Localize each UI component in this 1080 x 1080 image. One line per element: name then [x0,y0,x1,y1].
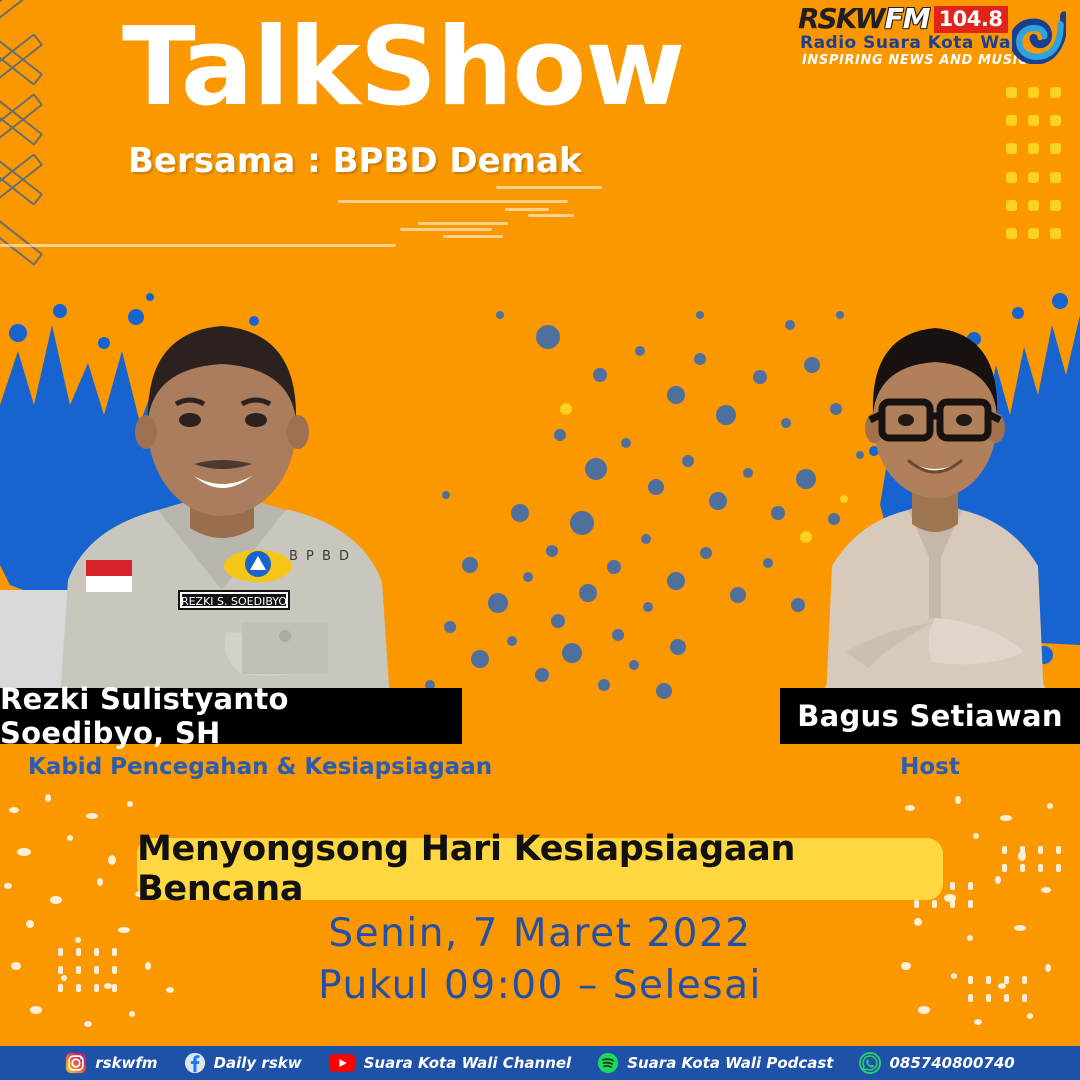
social-instagram[interactable]: rskwfm [65,1052,157,1074]
social-label: Suara Kota Wali Podcast [627,1054,833,1072]
logo-brand-fm: FM [885,5,930,33]
chevron-decoration [0,18,104,273]
schedule-block: Senin, 7 Maret 2022 Pukul 09:00 – Selesa… [0,908,1080,1012]
topic-text: Menyongsong Hari Kesiapsiagaan Bencana [137,829,943,909]
logo-frequency: 104.8 [934,6,1008,33]
social-facebook[interactable]: Daily rskw [184,1052,302,1074]
talkshow-poster: RSKW FM 104.8 Radio Suara Kota Wali INSP… [0,0,1080,1080]
schedule-time: Pukul 09:00 – Selesai [0,960,1080,1012]
youtube-icon [328,1052,356,1074]
host-name: Bagus Setiawan [797,699,1063,733]
social-label: Daily rskw [214,1054,302,1072]
social-footer: rskwfm Daily rskw Suara Kota Wali Channe… [0,1042,1080,1080]
host-photo-bagus [800,270,1070,700]
logo-brand-main: RSKW [798,5,884,33]
social-whatsapp[interactable]: 085740800740 [859,1052,1014,1074]
instagram-icon [65,1052,87,1074]
schedule-date: Senin, 7 Maret 2022 [0,908,1080,960]
station-logo: RSKW FM 104.8 Radio Suara Kota Wali INSP… [798,4,1066,76]
whatsapp-icon [859,1052,881,1074]
facebook-icon [184,1052,206,1074]
page-title: TalkShow [122,12,684,124]
social-youtube[interactable]: Suara Kota Wali Channel [328,1052,572,1074]
social-spotify[interactable]: Suara Kota Wali Podcast [597,1052,833,1074]
speed-lines-decoration [300,180,660,252]
host-role: Host [780,754,1080,780]
social-label: Suara Kota Wali Channel [364,1054,572,1072]
guest-nameplate: Rezki Sulistyanto Soedibyo, SH [0,688,462,744]
dot-grid-decoration [1000,78,1066,248]
topic-banner: Menyongsong Hari Kesiapsiagaan Bencana [137,838,943,900]
social-label: 085740800740 [889,1054,1014,1072]
wave-swirl-icon [1012,10,1066,64]
chevron-right-icon [0,198,92,250]
guest-photo-rezki: REZKI S. SOEDIBYO B P B D [0,260,460,700]
photo-band: REZKI S. SOEDIBYO B P B D [0,255,1080,700]
spotify-icon [597,1052,619,1074]
guest-role: Kabid Pencegahan & Kesiapsiagaan [28,754,492,780]
host-nameplate: Bagus Setiawan [780,688,1080,744]
svg-text:REZKI S. SOEDIBYO: REZKI S. SOEDIBYO [181,595,287,608]
social-label: rskwfm [95,1054,157,1072]
guest-name: Rezki Sulistyanto Soedibyo, SH [0,682,462,750]
svg-text:B P B D: B P B D [289,549,351,564]
page-subtitle: Bersama : BPBD Demak [128,142,582,180]
